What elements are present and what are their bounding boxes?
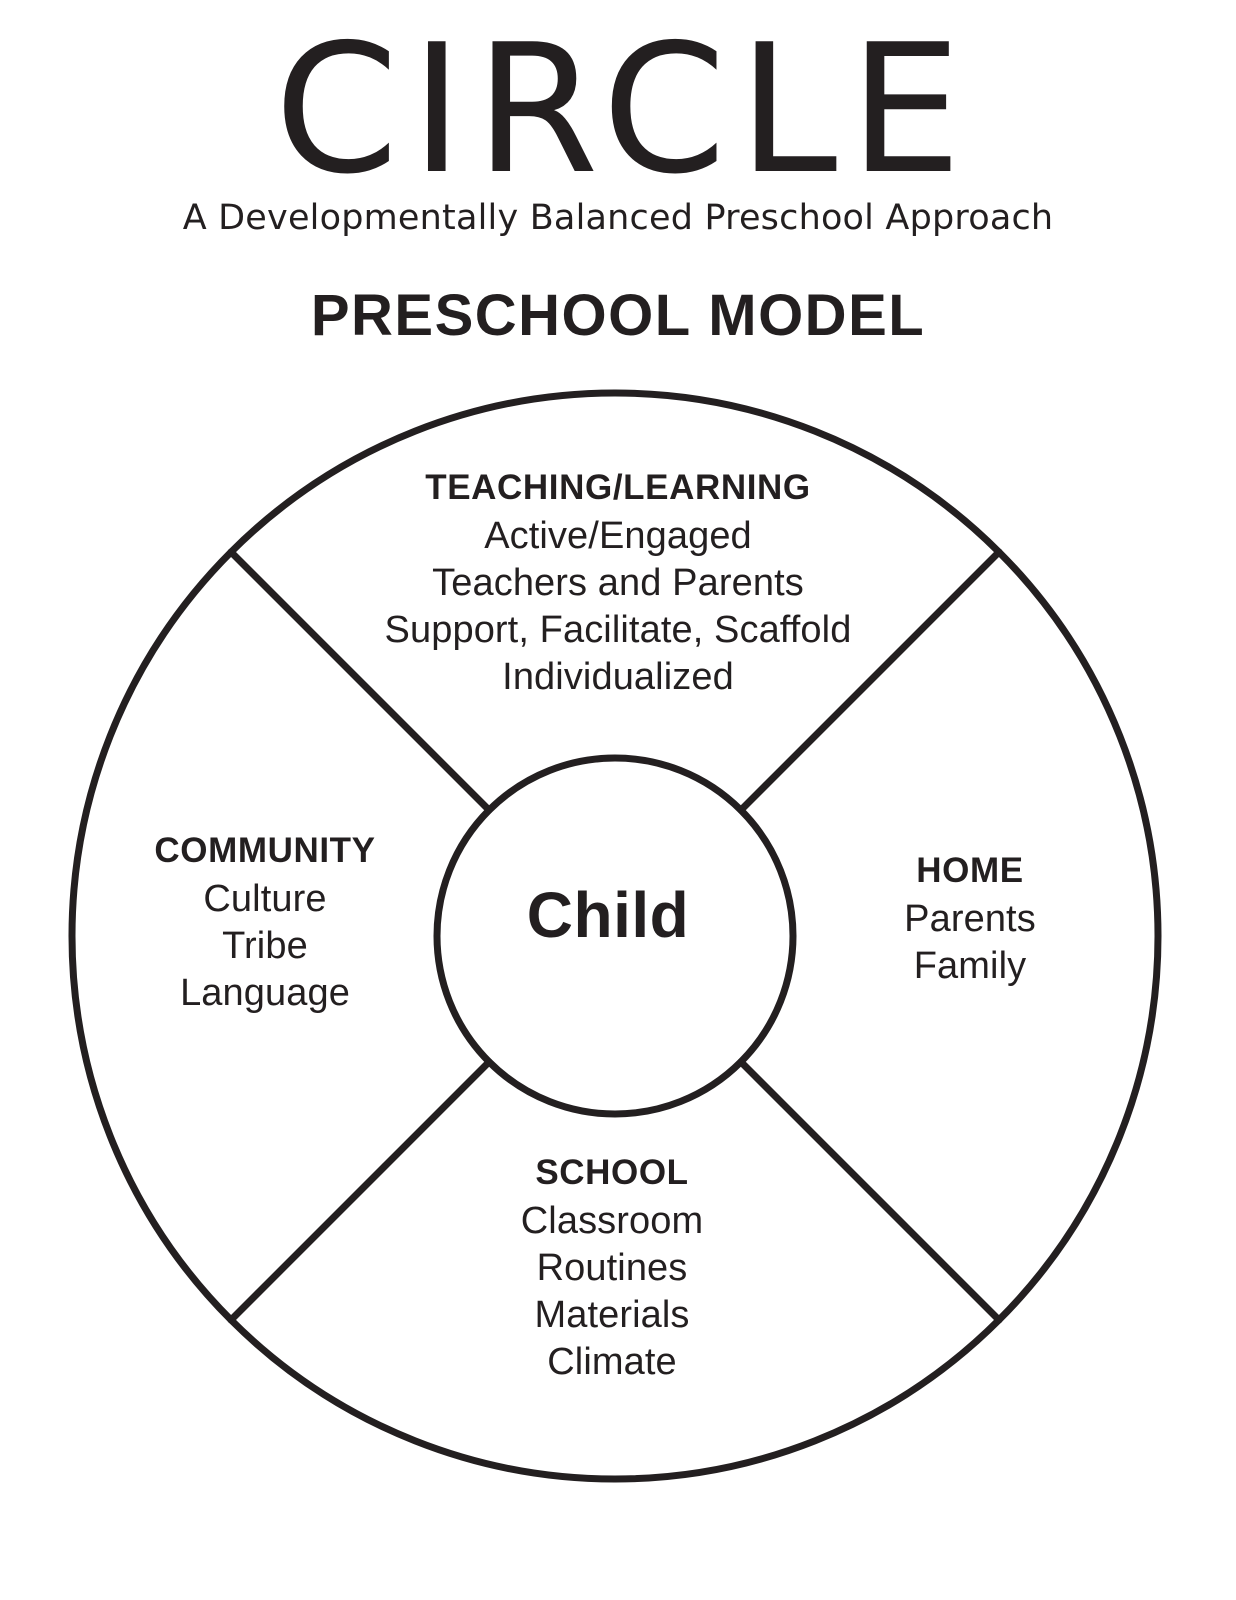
segment-line: Language [75,970,455,1017]
circle-logo-wordmark: CIRCLE [0,28,1236,192]
segment-community: COMMUNITY Culture Tribe Language [75,828,455,1017]
segment-line: Teachers and Parents [318,560,918,607]
segment-line: Family [805,943,1135,990]
segment-line: Support, Facilitate, Scaffold [318,607,918,654]
segment-line: Climate [392,1339,832,1386]
segment-title-school: SCHOOL [392,1150,832,1196]
segment-school: SCHOOL Classroom Routines Materials Clim… [392,1150,832,1386]
segment-title-teaching-learning: TEACHING/LEARNING [318,465,918,511]
preschool-model-wheel: TEACHING/LEARNING Active/Engaged Teacher… [0,380,1236,1500]
segment-line: Individualized [318,654,918,701]
page-title: PRESCHOOL MODEL [0,282,1236,349]
segment-teaching-learning: TEACHING/LEARNING Active/Engaged Teacher… [318,465,918,701]
segment-line: Tribe [75,923,455,970]
segment-line: Routines [392,1245,832,1292]
segment-line: Classroom [392,1198,832,1245]
segment-line: Materials [392,1292,832,1339]
segment-title-community: COMMUNITY [75,828,455,874]
segment-line: Parents [805,896,1135,943]
segment-home: HOME Parents Family [805,848,1135,990]
segment-line: Culture [75,876,455,923]
center-label-child: Child [428,878,788,952]
logo-tagline: A Developmentally Balanced Preschool App… [0,198,1236,238]
segment-line: Active/Engaged [318,513,918,560]
segment-title-home: HOME [805,848,1135,894]
page-header: CIRCLE A Developmentally Balanced Presch… [0,0,1236,349]
